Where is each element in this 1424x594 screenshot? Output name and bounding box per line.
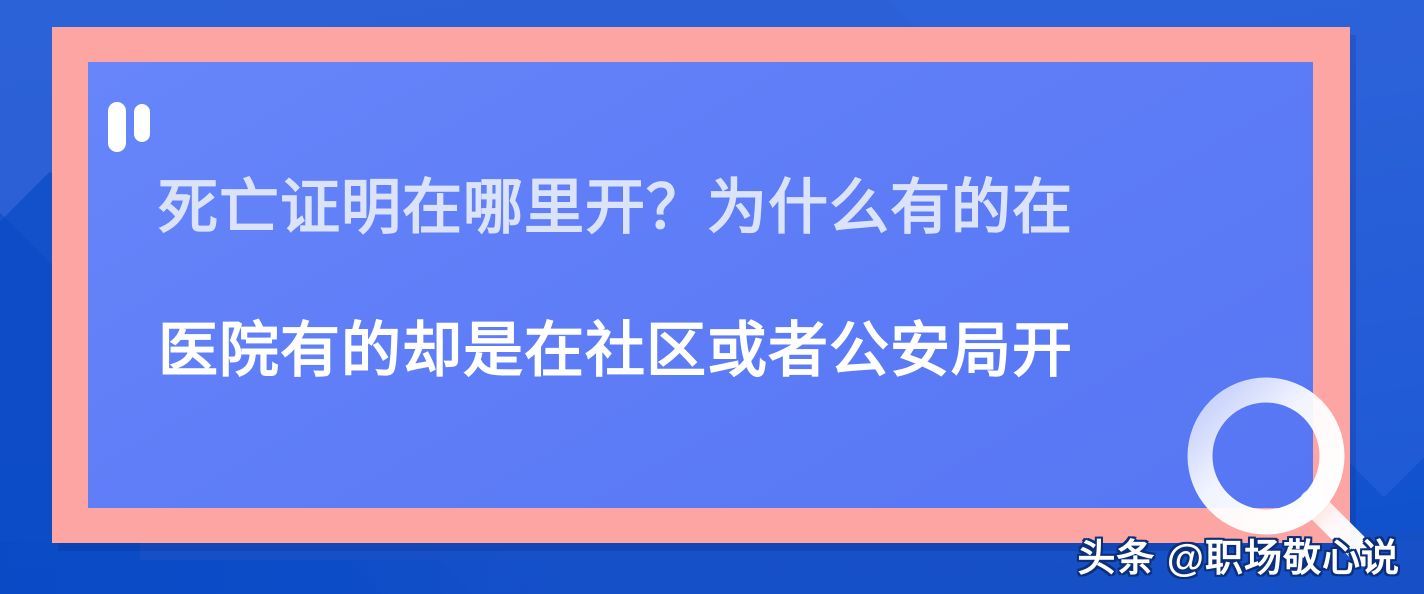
headline-line-1: 死亡证明在哪里开？为什么有的在 xyxy=(158,178,1268,238)
pause-quote-icon-bar-left xyxy=(108,102,126,152)
watermark-text: 头条 @职场敬心说 xyxy=(1077,527,1400,582)
headline-line-2: 医院有的却是在社区或者公安局开 xyxy=(158,321,1268,381)
pause-quote-icon-bar-right xyxy=(134,104,150,142)
headline-panel: 死亡证明在哪里开？为什么有的在 医院有的却是在社区或者公安局开 xyxy=(88,62,1313,508)
headline: 死亡证明在哪里开？为什么有的在 医院有的却是在社区或者公安局开 xyxy=(158,178,1268,381)
pause-quote-icon xyxy=(108,102,160,154)
poster-canvas: 死亡证明在哪里开？为什么有的在 医院有的却是在社区或者公安局开 头条 @职场敬心… xyxy=(0,0,1424,594)
